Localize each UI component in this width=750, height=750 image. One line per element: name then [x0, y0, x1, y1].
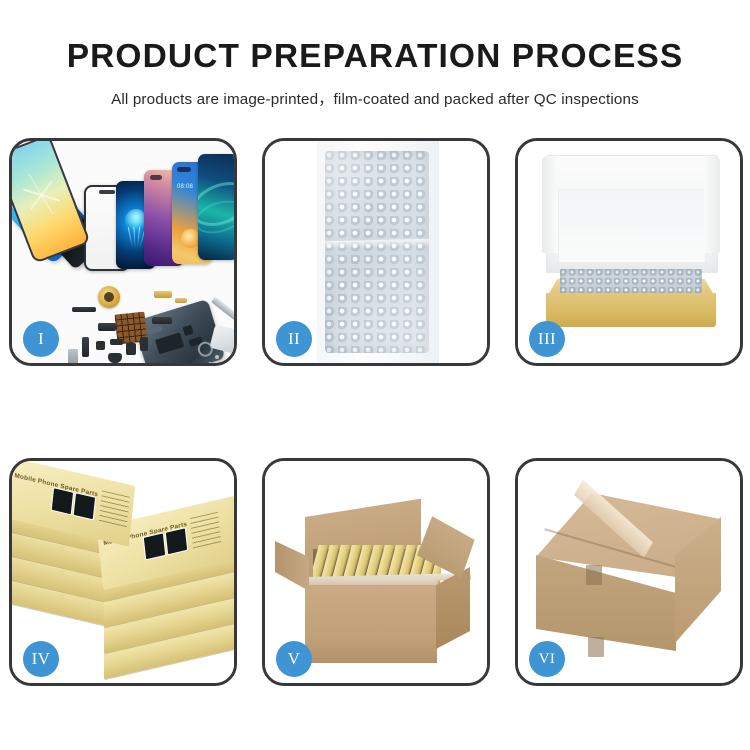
small-part-icon [140, 337, 148, 351]
process-step-6[interactable]: VI [515, 458, 743, 686]
crack-pattern-icon [19, 167, 63, 221]
page-subtitle: All products are image-printed，film-coat… [0, 76, 750, 109]
small-part-icon [96, 341, 105, 350]
lockscreen-clock-icon: 08:08 [177, 184, 193, 190]
camera-module-icon [150, 175, 162, 180]
header: PRODUCT PREPARATION PROCESS All products… [0, 0, 750, 109]
box-window-icon [73, 492, 97, 520]
carton-flap-left [275, 541, 309, 591]
screw-icon [223, 360, 227, 363]
step-badge-2: II [276, 321, 312, 357]
speaker-module-icon [108, 353, 122, 363]
flex-cable-icon [152, 317, 172, 324]
box-lid-flap-right [704, 157, 720, 253]
process-step-2[interactable]: II [262, 138, 490, 366]
phone-motherboard-icon [133, 299, 226, 363]
box-spec-lines [98, 490, 130, 530]
carton-front-face [305, 585, 437, 663]
bubble-wrap-in-tray-icon [560, 269, 702, 295]
bubble-wrap-icon [325, 151, 429, 353]
step-badge-6: VI [529, 641, 565, 677]
gold-connector-icon [154, 291, 172, 298]
small-part-icon [110, 339, 123, 345]
process-step-grid: 08:08 [9, 138, 743, 690]
process-step-5[interactable]: V [262, 458, 490, 686]
phone-teal-wallpaper-icon [198, 154, 234, 260]
flex-cable-icon [82, 337, 89, 357]
process-step-1[interactable]: 08:08 [9, 138, 237, 366]
screw-icon [215, 355, 219, 359]
flex-cable-icon [72, 307, 96, 312]
box-window-icon [165, 527, 189, 555]
box-window-icon [143, 532, 167, 560]
kraft-tray-front [546, 293, 716, 327]
speaker-disc-icon [98, 286, 120, 308]
small-part-icon [126, 343, 136, 355]
box-spec-lines [190, 512, 222, 552]
step-badge-3: III [529, 321, 565, 357]
step-badge-1: I [23, 321, 59, 357]
box-lid-inner-panel [558, 189, 706, 263]
gold-connector-icon [175, 298, 187, 303]
flex-cable-icon [98, 323, 116, 331]
phone-cracked-screen-icon [12, 141, 91, 264]
step-badge-5: V [276, 641, 312, 677]
camera-module-icon [177, 167, 191, 172]
sim-tray-icon [68, 349, 78, 363]
notch-icon [99, 190, 115, 194]
chip-icon [155, 332, 184, 354]
carton-seal-tab [586, 565, 602, 585]
process-step-4[interactable]: Mobile Phone Spare Parts Mobile Phone Sp… [9, 458, 237, 686]
screw-icon [208, 362, 212, 363]
tweezers-icon [211, 297, 234, 321]
page-title: PRODUCT PREPARATION PROCESS [0, 0, 750, 76]
chip-icon [182, 325, 193, 336]
box-window-icon [51, 487, 75, 515]
process-step-3[interactable]: III [515, 138, 743, 366]
box-lid-flap-left [542, 157, 558, 253]
step-badge-4: IV [23, 641, 59, 677]
carton-seal-tab [588, 637, 604, 657]
chip-icon [148, 326, 163, 335]
product-preparation-infographic: PRODUCT PREPARATION PROCESS All products… [0, 0, 750, 750]
